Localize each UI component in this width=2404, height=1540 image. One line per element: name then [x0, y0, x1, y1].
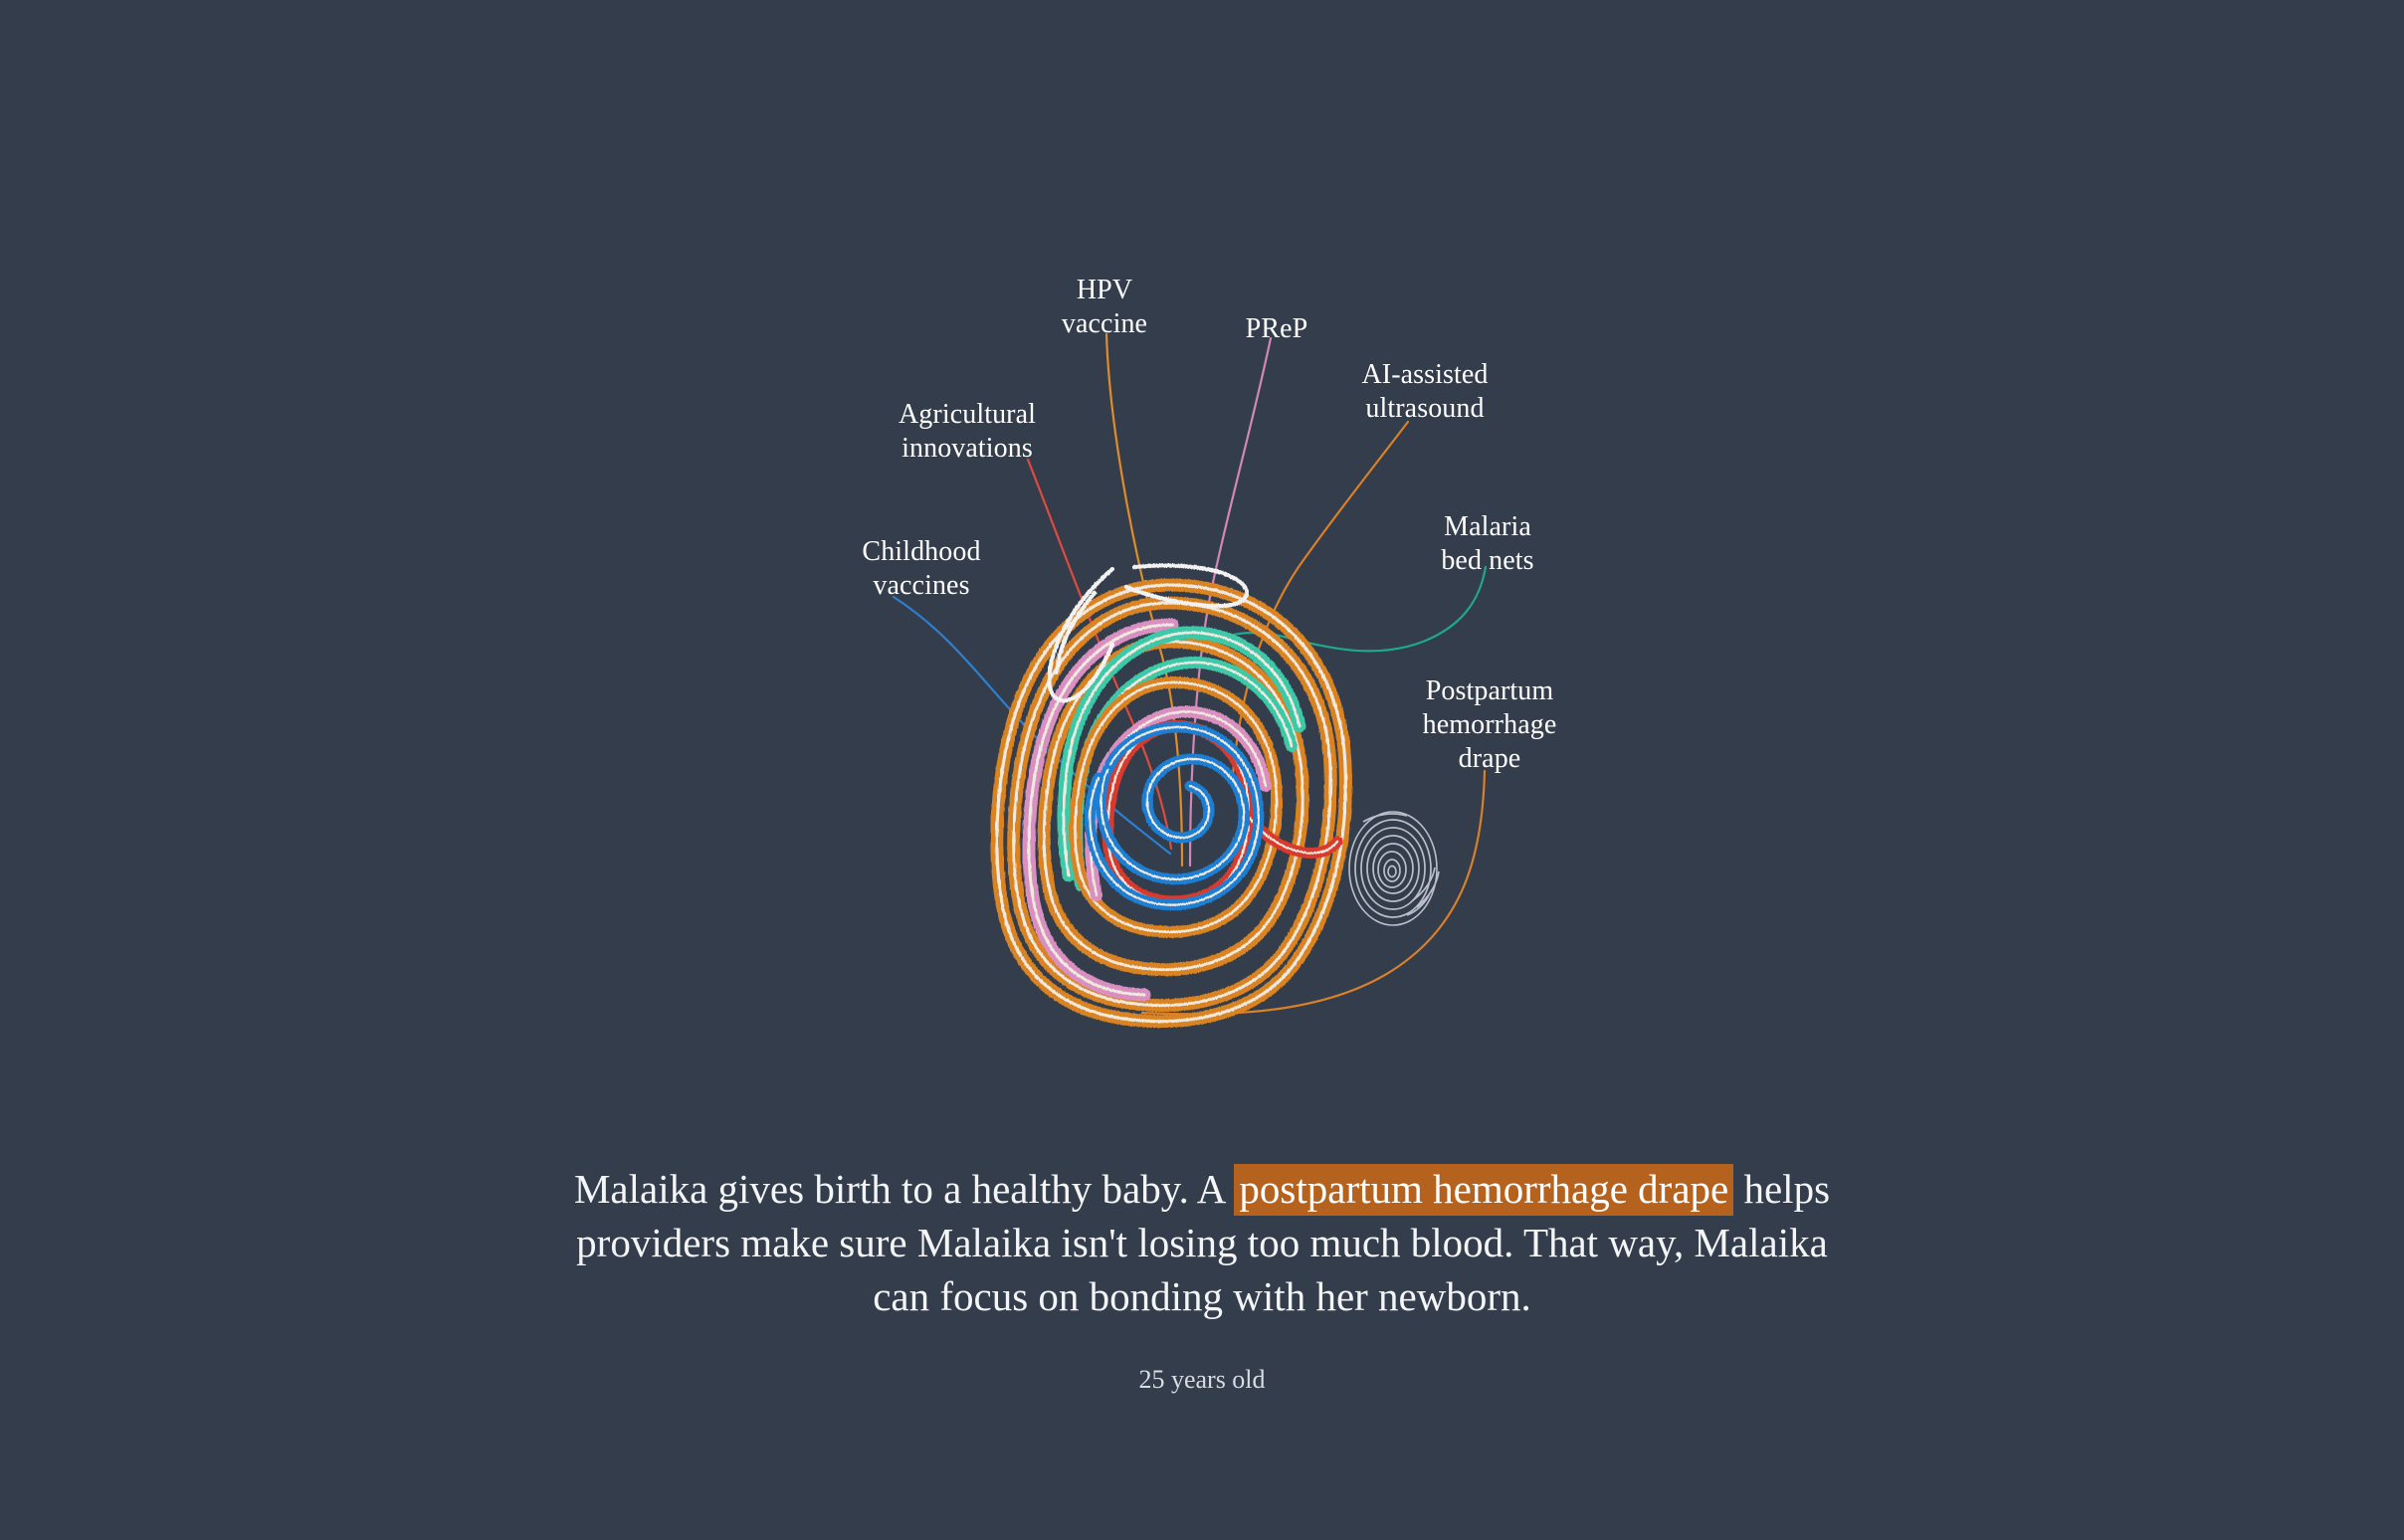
connector-malaria-bed-nets — [1204, 567, 1486, 651]
label-hpv-vaccine[interactable]: HPV vaccine — [1062, 274, 1147, 341]
page-root: Childhood vaccines Agricultural innovati… — [0, 0, 2404, 1540]
label-ai-assisted-ultrasound[interactable]: AI-assisted ultrasound — [1361, 358, 1488, 426]
diagram-svg — [0, 0, 2404, 1094]
label-agricultural-innovations[interactable]: Agricultural innovations — [899, 398, 1036, 466]
caption-highlight: postpartum hemorrhage drape — [1234, 1164, 1733, 1216]
main-fingerprint — [997, 566, 1346, 1022]
label-childhood-vaccines[interactable]: Childhood vaccines — [862, 535, 980, 603]
caption-segment-0: Malaika gives birth to a healthy baby. A — [574, 1166, 1234, 1212]
label-prep[interactable]: PReP — [1246, 312, 1308, 346]
caption-text: Malaika gives birth to a healthy baby. A… — [555, 1162, 1849, 1323]
fingerprint-diagram: Childhood vaccines Agricultural innovati… — [0, 0, 2404, 1094]
newborn-fingerprint — [1349, 812, 1439, 925]
label-postpartum-hemorrhage-drape[interactable]: Postpartum hemorrhage drape — [1423, 674, 1557, 776]
age-label: 25 years old — [555, 1365, 1849, 1395]
caption-block: Malaika gives birth to a healthy baby. A… — [555, 1162, 1849, 1395]
label-malaria-bed-nets[interactable]: Malaria bed nets — [1441, 510, 1533, 578]
